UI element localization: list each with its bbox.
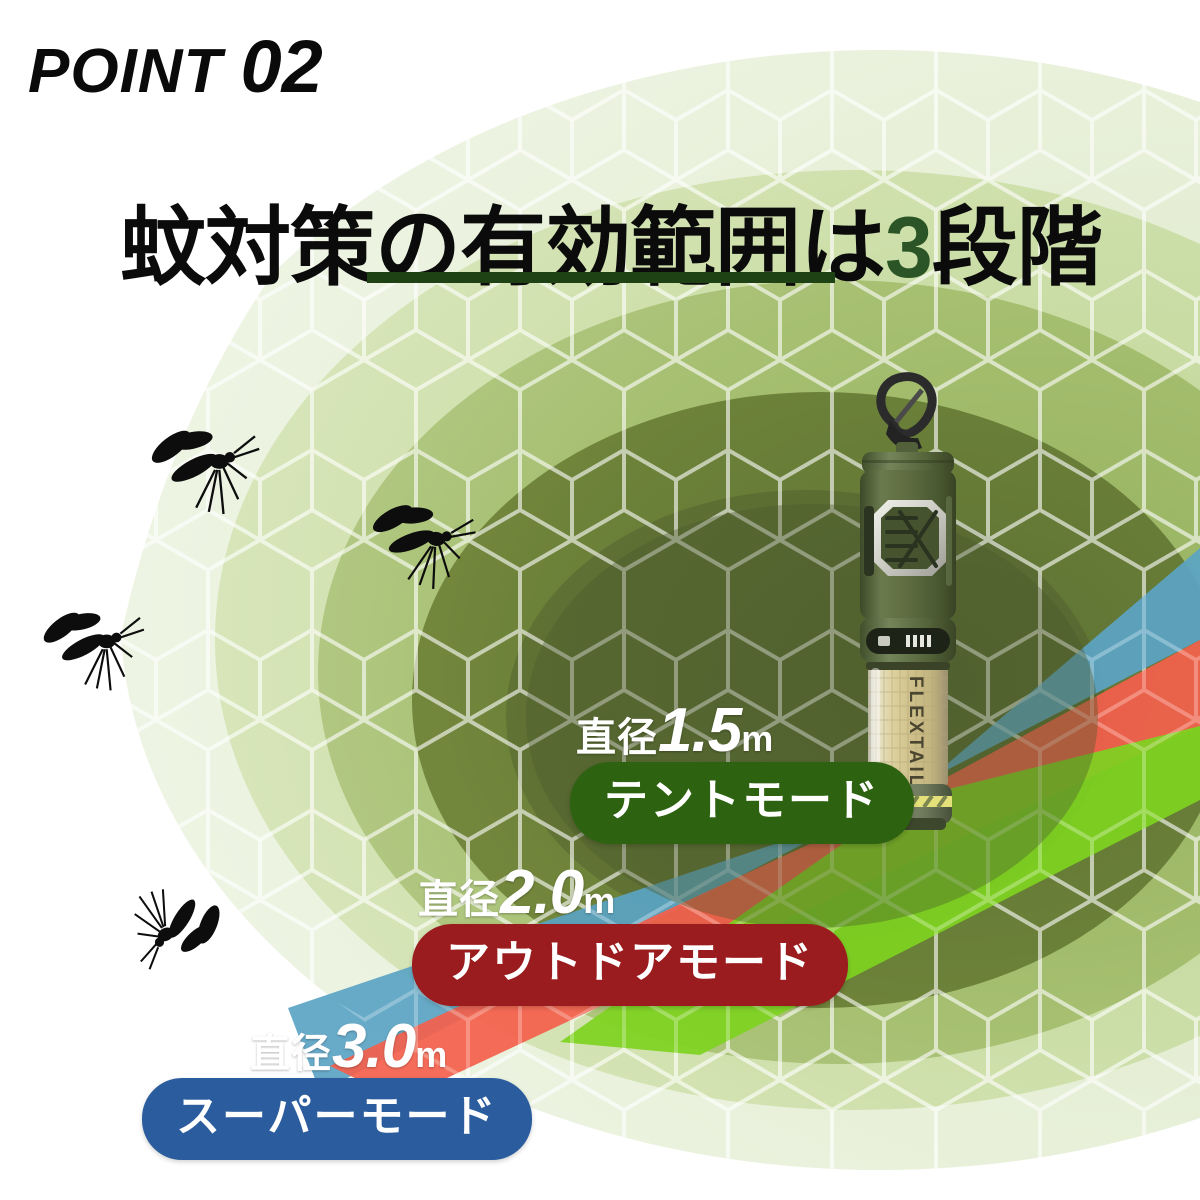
headline-accent-number: 3 <box>885 200 932 296</box>
carabiner-icon <box>881 377 932 434</box>
promo-graphic: POINT02 蚊対策の有効範囲は3段階 <box>0 0 1200 1200</box>
point-prefix: POINT <box>28 37 222 106</box>
callout-tent-mode[interactable]: 直径1.5m テントモード <box>570 700 914 844</box>
diameter-outdoor: 直径2.0m <box>412 862 848 924</box>
body-side-vent <box>864 506 874 576</box>
diameter-value: 2.0 <box>500 858 583 927</box>
diameter-tent: 直径1.5m <box>570 700 914 762</box>
mode-pill-outdoor[interactable]: アウトドアモード <box>412 924 848 1006</box>
diameter-kanji: 直径 <box>418 878 500 922</box>
body-side-highlight <box>946 496 952 586</box>
carabiner-gate <box>896 390 922 422</box>
diameter-unit: m <box>415 1034 447 1075</box>
diameter-value: 1.5 <box>658 696 741 765</box>
diameter-kanji: 直径 <box>250 1032 332 1076</box>
mode-pill-tent[interactable]: テントモード <box>570 762 914 844</box>
cap-ring-ridge <box>862 460 954 463</box>
diameter-unit: m <box>583 880 615 921</box>
power-button-2 <box>878 636 890 646</box>
tube-top-rim <box>866 662 950 670</box>
headline-part2: 段階 <box>932 200 1102 296</box>
callout-outdoor-mode[interactable]: 直径2.0m アウトドアモード <box>412 862 848 1006</box>
diameter-value: 3.0 <box>332 1012 415 1081</box>
diameter-super: 直径3.0m <box>142 1016 532 1078</box>
diameter-kanji: 直径 <box>576 716 658 760</box>
callout-super-mode[interactable]: 直径3.0m スーパーモード <box>142 1016 532 1160</box>
mode-pill-super[interactable]: スーパーモード <box>142 1078 532 1160</box>
diameter-unit: m <box>741 718 773 759</box>
point-label: POINT02 <box>28 30 323 104</box>
point-number: 02 <box>240 25 322 108</box>
title-underline <box>367 272 835 283</box>
